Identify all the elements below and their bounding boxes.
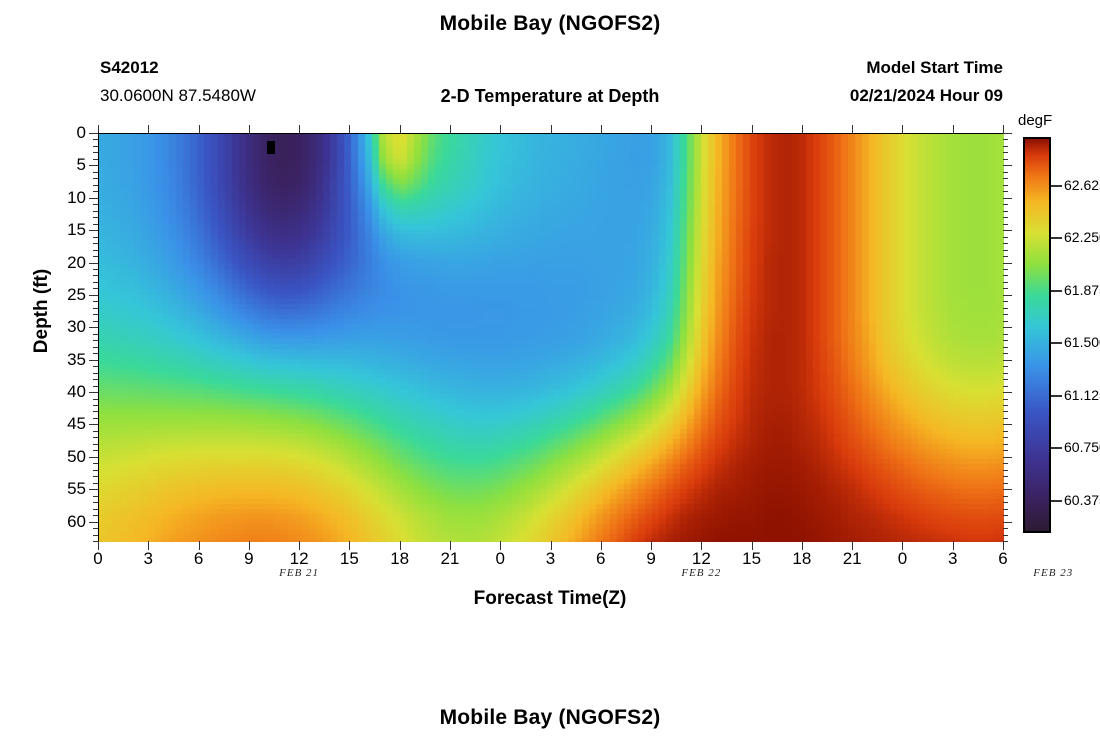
x-axis-date-label: FEB 22 [656, 567, 746, 579]
y-axis-minor-tick [93, 334, 98, 335]
y-axis-tick-right [1003, 411, 1008, 412]
x-axis-label: 6 [983, 549, 1023, 569]
y-axis-minor-tick [93, 515, 98, 516]
y-axis-tick-right [1003, 379, 1008, 380]
x-axis-tick-top [953, 125, 954, 133]
y-axis-minor-tick [93, 224, 98, 225]
y-axis-minor-tick [93, 152, 98, 153]
y-axis-tick-right [1003, 437, 1008, 438]
y-axis-tick-right [1003, 535, 1008, 536]
station-depth-marker [267, 141, 275, 154]
y-axis-tick-right [1003, 502, 1008, 503]
y-axis-minor-tick [93, 321, 98, 322]
x-axis-label: 0 [78, 549, 118, 569]
y-axis-label: 35 [40, 350, 86, 370]
y-axis-minor-tick [93, 437, 98, 438]
y-axis-minor-tick [93, 146, 98, 147]
x-axis-tick-top [1003, 125, 1004, 133]
colorbar-tick [1051, 185, 1062, 187]
y-axis-minor-tick [93, 399, 98, 400]
y-axis-minor-tick [93, 502, 98, 503]
x-axis-tick-top [500, 125, 501, 133]
y-axis-tick-right [1003, 217, 1008, 218]
y-axis-tick [89, 457, 98, 458]
model-start-time-label: Model Start Time [866, 58, 1003, 78]
y-axis-minor-tick [93, 509, 98, 510]
x-axis-tick-top [651, 125, 652, 133]
y-axis-minor-tick [93, 308, 98, 309]
x-axis-tick-top [902, 125, 903, 133]
x-axis-label: 9 [229, 549, 269, 569]
y-axis-tick [89, 295, 98, 296]
y-axis-minor-tick [93, 353, 98, 354]
y-axis-minor-tick [93, 528, 98, 529]
y-axis-minor-tick [93, 185, 98, 186]
y-axis-tick-right [1003, 146, 1008, 147]
y-axis-minor-tick [93, 483, 98, 484]
y-axis-label: 15 [40, 220, 86, 240]
y-axis-tick-right [1003, 243, 1008, 244]
y-axis-tick-right [1003, 373, 1008, 374]
y-axis-minor-tick [93, 204, 98, 205]
y-axis-minor-tick [93, 250, 98, 251]
y-axis-minor-tick [93, 282, 98, 283]
y-axis-tick-right [1003, 522, 1012, 523]
station-id: S42012 [100, 58, 159, 78]
colorbar-tick-label: 61.875 [1064, 282, 1100, 298]
y-axis-tick-right [1003, 269, 1008, 270]
colorbar-tick [1051, 500, 1062, 502]
y-axis-tick-right [1003, 366, 1008, 367]
y-axis-tick [89, 327, 98, 328]
y-axis-minor-tick [93, 269, 98, 270]
y-axis-minor-tick [93, 340, 98, 341]
y-axis-tick-right [1003, 457, 1012, 458]
colorbar-gradient [1025, 139, 1049, 531]
x-axis-label: 3 [933, 549, 973, 569]
x-axis-tick-top [852, 125, 853, 133]
x-axis-date-label: FEB 21 [254, 567, 344, 579]
x-axis-tick-top [249, 125, 250, 133]
x-axis-label: 12 [279, 549, 319, 569]
x-axis-tick-top [400, 125, 401, 133]
y-axis-tick-right [1003, 483, 1008, 484]
footer-title: Mobile Bay (NGOFS2) [0, 706, 1100, 730]
y-axis-minor-tick [93, 178, 98, 179]
y-axis-minor-tick [93, 237, 98, 238]
y-axis-tick [89, 133, 98, 134]
colorbar-tick-label: 61.500 [1064, 334, 1100, 350]
y-axis-minor-tick [93, 450, 98, 451]
colorbar-tick [1051, 342, 1062, 344]
y-axis-tick-right [1003, 347, 1008, 348]
y-axis-label: 50 [40, 447, 86, 467]
y-axis-minor-tick [93, 211, 98, 212]
y-axis-tick-right [1003, 515, 1008, 516]
y-axis-tick-right [1003, 308, 1008, 309]
y-axis-tick-right [1003, 334, 1008, 335]
y-axis-label: 30 [40, 317, 86, 337]
y-axis-tick-right [1003, 360, 1012, 361]
x-axis-label: 12 [681, 549, 721, 569]
y-axis-tick-right [1003, 418, 1008, 419]
colorbar [1023, 137, 1051, 533]
y-axis-minor-tick [93, 411, 98, 412]
colorbar-tick-label: 60.375 [1064, 492, 1100, 508]
y-axis-tick-right [1003, 288, 1008, 289]
y-axis-tick-right [1003, 256, 1008, 257]
y-axis-tick-right [1003, 237, 1008, 238]
y-axis-minor-tick [93, 366, 98, 367]
colorbar-tick-label: 62.625 [1064, 177, 1100, 193]
y-axis-tick-right [1003, 198, 1012, 199]
y-axis-label: 5 [40, 155, 86, 175]
y-axis-tick-right [1003, 159, 1008, 160]
x-axis-label: 18 [782, 549, 822, 569]
x-axis-label: 15 [732, 549, 772, 569]
y-axis-tick-right [1003, 191, 1008, 192]
y-axis-minor-tick [93, 159, 98, 160]
y-axis-tick-right [1003, 263, 1012, 264]
y-axis-minor-tick [93, 541, 98, 542]
y-axis-tick-right [1003, 399, 1008, 400]
y-axis-minor-tick [93, 496, 98, 497]
y-axis-tick-right [1003, 295, 1012, 296]
y-axis-label: 45 [40, 414, 86, 434]
y-axis-tick-right [1003, 450, 1008, 451]
y-axis-tick-right [1003, 431, 1008, 432]
colorbar-tick [1051, 395, 1062, 397]
y-axis-label: 0 [40, 123, 86, 143]
y-axis-tick-right [1003, 139, 1008, 140]
y-axis-minor-tick [93, 405, 98, 406]
y-axis-minor-tick [93, 476, 98, 477]
y-axis-tick-right [1003, 301, 1008, 302]
colorbar-tick [1051, 447, 1062, 449]
y-axis-minor-tick [93, 444, 98, 445]
x-axis-tick-top [349, 125, 350, 133]
y-axis-tick-right [1003, 489, 1012, 490]
colorbar-tick-label: 60.750 [1064, 439, 1100, 455]
colorbar-units-label: degF [1018, 112, 1052, 129]
x-axis-tick-top [148, 125, 149, 133]
y-axis-tick-right [1003, 165, 1012, 166]
y-axis-tick [89, 522, 98, 523]
y-axis-tick-right [1003, 340, 1008, 341]
heatmap-canvas [99, 134, 1004, 542]
x-axis-label: 18 [380, 549, 420, 569]
y-axis-minor-tick [93, 379, 98, 380]
colorbar-tick [1051, 237, 1062, 239]
y-axis-label: 10 [40, 188, 86, 208]
x-axis-label: 21 [832, 549, 872, 569]
y-axis-label: 55 [40, 479, 86, 499]
y-axis-minor-tick [93, 301, 98, 302]
y-axis-tick-right [1003, 463, 1008, 464]
y-axis-tick-right [1003, 172, 1008, 173]
y-axis-label: 20 [40, 253, 86, 273]
x-axis-label: 3 [128, 549, 168, 569]
y-axis-tick-right [1003, 386, 1008, 387]
y-axis-minor-tick [93, 463, 98, 464]
y-axis-tick-right [1003, 424, 1012, 425]
y-axis-tick-right [1003, 314, 1008, 315]
y-axis-tick-right [1003, 282, 1008, 283]
y-axis-tick [89, 198, 98, 199]
y-axis-tick-right [1003, 275, 1008, 276]
y-axis-tick-right [1003, 230, 1012, 231]
y-axis-minor-tick [93, 314, 98, 315]
y-axis-tick-right [1003, 250, 1008, 251]
y-axis-tick-right [1003, 185, 1008, 186]
x-axis-tick-top [450, 125, 451, 133]
x-axis-tick-top [551, 125, 552, 133]
y-axis-tick-right [1003, 528, 1008, 529]
y-axis-tick-right [1003, 224, 1008, 225]
y-axis-minor-tick [93, 470, 98, 471]
y-axis-tick-right [1003, 541, 1008, 542]
x-axis-tick-top [199, 125, 200, 133]
y-axis-tick-right [1003, 496, 1008, 497]
y-axis-minor-tick [93, 431, 98, 432]
heatmap-plot-area [98, 133, 1003, 541]
x-axis-label: 9 [631, 549, 671, 569]
y-axis-minor-tick [93, 288, 98, 289]
x-axis-tick-top [802, 125, 803, 133]
x-axis-label: 6 [581, 549, 621, 569]
x-axis-tick-top [752, 125, 753, 133]
y-axis-tick-right [1003, 476, 1008, 477]
page-title: Mobile Bay (NGOFS2) [0, 12, 1100, 36]
y-axis-tick-right [1003, 327, 1012, 328]
model-start-time-value: 02/21/2024 Hour 09 [850, 86, 1003, 106]
x-axis-label: 6 [179, 549, 219, 569]
y-axis-tick-right [1003, 509, 1008, 510]
y-axis-minor-tick [93, 191, 98, 192]
y-axis-tick-right [1003, 353, 1008, 354]
y-axis-tick-right [1003, 211, 1008, 212]
y-axis-minor-tick [93, 275, 98, 276]
y-axis-minor-tick [93, 418, 98, 419]
y-axis-minor-tick [93, 373, 98, 374]
x-axis-label: 0 [480, 549, 520, 569]
y-axis-tick-right [1003, 133, 1012, 134]
x-axis-tick-top [299, 125, 300, 133]
y-axis-minor-tick [93, 386, 98, 387]
x-axis-tick-top [98, 125, 99, 133]
y-axis-tick-right [1003, 470, 1008, 471]
y-axis-tick-right [1003, 444, 1008, 445]
y-axis-tick [89, 360, 98, 361]
y-axis-label: 60 [40, 512, 86, 532]
y-axis-tick [89, 165, 98, 166]
y-axis-label: 40 [40, 382, 86, 402]
y-axis-minor-tick [93, 172, 98, 173]
colorbar-tick [1051, 290, 1062, 292]
x-axis-tick-top [701, 125, 702, 133]
y-axis-tick [89, 424, 98, 425]
y-axis-minor-tick [93, 256, 98, 257]
y-axis-tick [89, 230, 98, 231]
colorbar-tick-label: 61.125 [1064, 387, 1100, 403]
x-axis-date-label: FEB 23 [1008, 567, 1098, 579]
y-axis-tick-right [1003, 204, 1008, 205]
y-axis-tick-right [1003, 321, 1008, 322]
x-axis-title: Forecast Time(Z) [0, 588, 1100, 610]
y-axis-tick-right [1003, 405, 1008, 406]
y-axis-tick [89, 263, 98, 264]
y-axis-label: 25 [40, 285, 86, 305]
y-axis-tick [89, 489, 98, 490]
y-axis-minor-tick [93, 217, 98, 218]
colorbar-tick-label: 62.250 [1064, 229, 1100, 245]
y-axis-tick [89, 392, 98, 393]
y-axis-tick-right [1003, 392, 1012, 393]
x-axis-label: 15 [329, 549, 369, 569]
y-axis-minor-tick [93, 347, 98, 348]
y-axis-minor-tick [93, 243, 98, 244]
y-axis-minor-tick [93, 139, 98, 140]
y-axis-tick-right [1003, 178, 1008, 179]
x-axis-label: 3 [531, 549, 571, 569]
y-axis-minor-tick [93, 535, 98, 536]
x-axis-label: 0 [882, 549, 922, 569]
x-axis-tick-top [601, 125, 602, 133]
x-axis-label: 21 [430, 549, 470, 569]
y-axis-tick-right [1003, 152, 1008, 153]
